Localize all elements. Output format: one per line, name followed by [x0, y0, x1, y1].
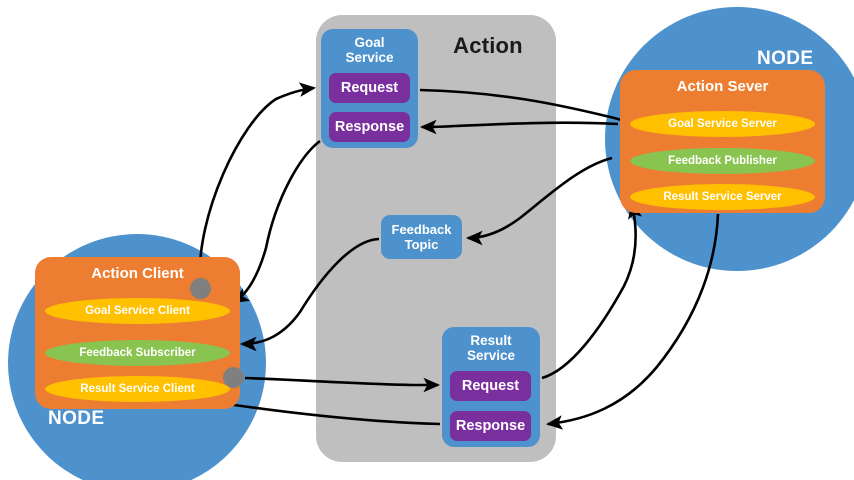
goal-service-response-box[interactable]: Response — [329, 112, 410, 142]
pill-result-service-client[interactable]: Result Service Client — [45, 376, 230, 402]
goal-service-request-box[interactable]: Request — [329, 73, 410, 103]
feedback-topic-title-line1: Feedback — [392, 222, 452, 237]
arrow-goal-response-to-client — [234, 141, 320, 302]
pill-feedback-subscriber[interactable]: Feedback Subscriber — [45, 340, 230, 366]
action-client-box[interactable]: Action Client Goal Service Client Feedba… — [35, 257, 240, 409]
action-group-title: Action — [424, 33, 552, 59]
node-client-label: NODE — [48, 408, 105, 430]
pill-result-service-server[interactable]: Result Service Server — [630, 184, 815, 210]
result-service-title-line1: Result — [442, 333, 540, 348]
connector-dot-goal-client — [190, 278, 211, 299]
goal-service-title-line1: Goal — [321, 35, 418, 50]
feedback-topic-title-line2: Topic — [405, 237, 439, 252]
goal-service-title-line2: Service — [321, 50, 418, 65]
action-server-box[interactable]: Action Sever Goal Service Server Feedbac… — [620, 70, 825, 213]
arrow-result-request-to-server — [542, 204, 636, 378]
action-server-title: Action Sever — [620, 78, 825, 95]
result-service-title-line2: Service — [442, 348, 540, 363]
pill-goal-service-client[interactable]: Goal Service Client — [45, 298, 230, 324]
diagram-canvas: Action — [0, 0, 854, 480]
result-service-box[interactable]: Result Service Request Response — [442, 327, 540, 447]
connector-dot-result-client — [223, 367, 244, 388]
result-service-title: Result Service — [442, 333, 540, 363]
node-server-label: NODE — [757, 48, 814, 70]
goal-service-box[interactable]: Goal Service Request Response — [321, 29, 418, 148]
feedback-topic-box[interactable]: Feedback Topic — [381, 215, 462, 259]
goal-service-title: Goal Service — [321, 35, 418, 65]
pill-goal-service-server[interactable]: Goal Service Server — [630, 111, 815, 137]
action-client-title: Action Client — [35, 265, 240, 282]
arrow-goal-client-to-request — [200, 88, 314, 282]
pill-feedback-publisher[interactable]: Feedback Publisher — [630, 148, 815, 174]
result-service-response-box[interactable]: Response — [450, 411, 531, 441]
result-service-request-box[interactable]: Request — [450, 371, 531, 401]
